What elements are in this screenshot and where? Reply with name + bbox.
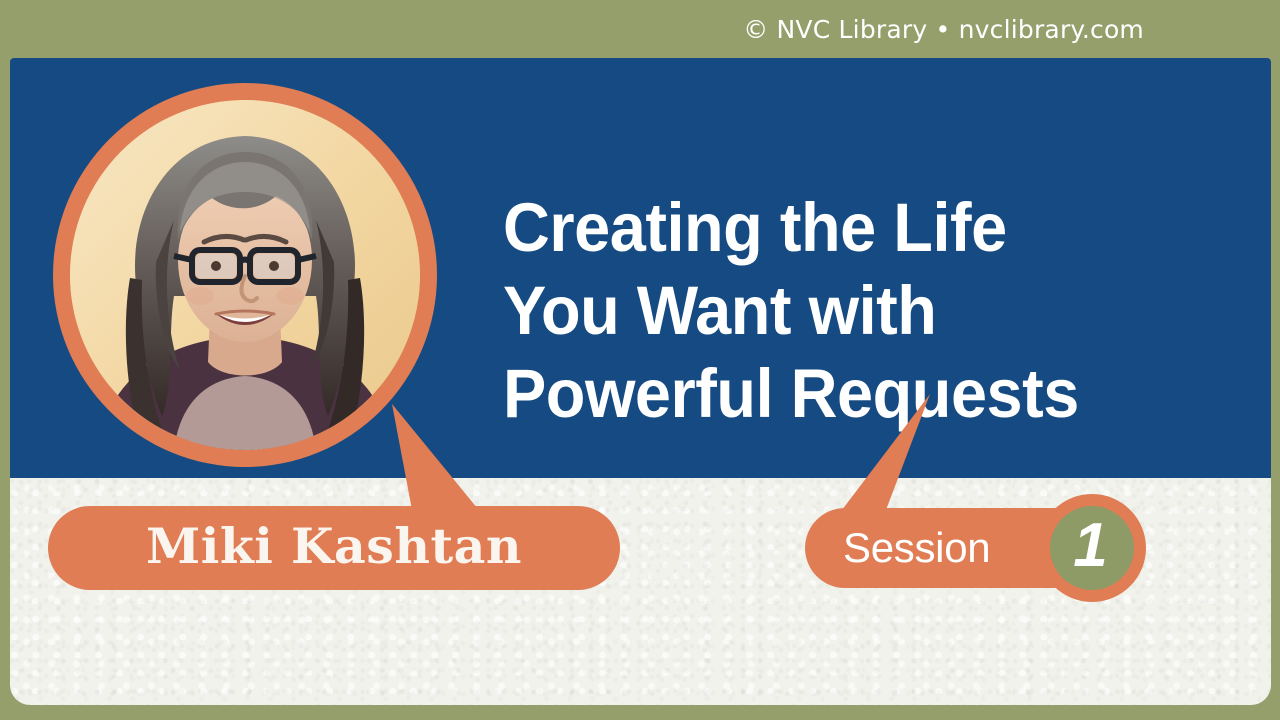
session-number-circle: 1: [1050, 506, 1134, 590]
title-line-1: Creating the Life: [503, 186, 1180, 269]
session-label: Session: [843, 524, 990, 572]
presenter-name-text: Miki Kashtan: [146, 517, 522, 579]
session-number-text: 1: [1073, 515, 1110, 582]
copyright-text: © NVC Library • nvclibrary.com: [743, 15, 1144, 44]
presenter-portrait-photo: [70, 100, 420, 450]
session-number-badge: 1: [1038, 494, 1146, 602]
presenter-portrait-illustration: [70, 100, 420, 450]
copyright-bar: © NVC Library • nvclibrary.com: [0, 0, 1280, 58]
title-line-2: You Want with: [503, 269, 1180, 352]
presentation-slide: © NVC Library • nvclibrary.com Creating …: [0, 0, 1280, 720]
presenter-name-badge: Miki Kashtan: [48, 506, 620, 590]
